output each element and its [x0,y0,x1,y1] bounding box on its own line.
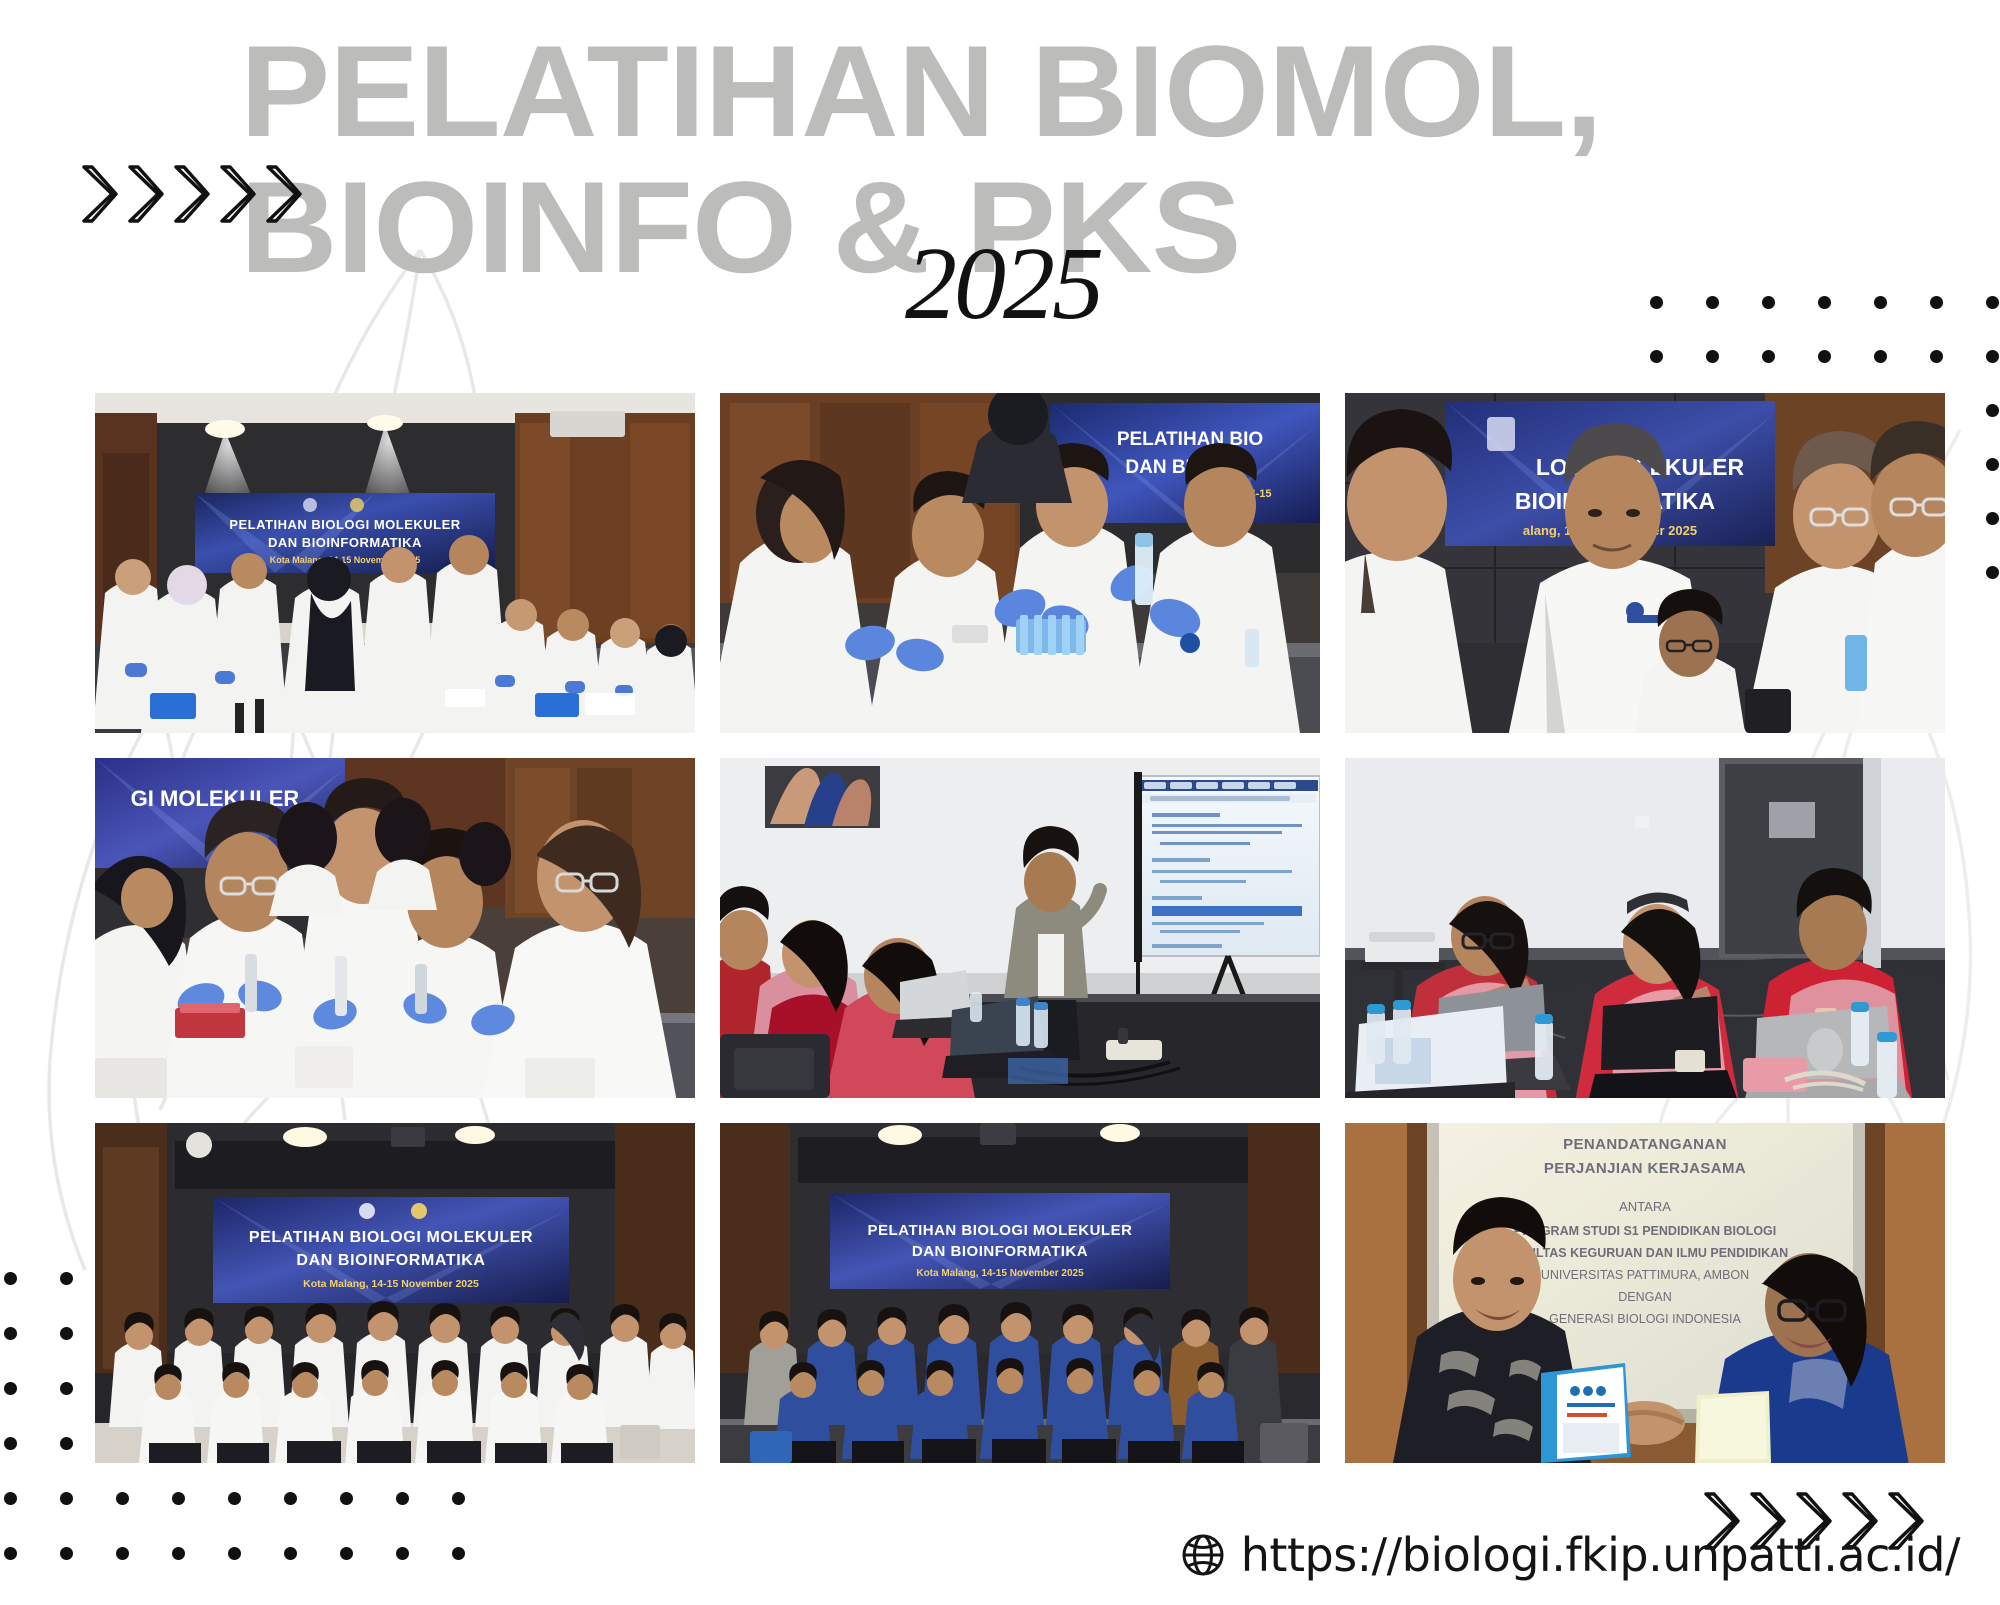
dot-icon [396,1492,409,1505]
dot-icon [1986,404,1999,417]
dot-icon [116,1547,129,1560]
gallery-photo-5[interactable] [720,758,1320,1098]
svg-text:PELATIHAN BIOLOGI MOLEKULER: PELATIHAN BIOLOGI MOLEKULER [249,1229,533,1246]
gallery-photo-6[interactable] [1345,758,1945,1098]
dot-icon [228,1547,241,1560]
svg-text:PERJANJIAN KERJASAMA: PERJANJIAN KERJASAMA [1544,1160,1746,1177]
dot-icon [4,1492,17,1505]
dot-icon [4,1327,17,1340]
dot-icon [1986,512,1999,525]
svg-text:PROGRAM STUDI S1 PENDIDIKAN BI: PROGRAM STUDI S1 PENDIDIKAN BIOLOGI [1514,1224,1777,1238]
dot-icon [396,1547,409,1560]
year-script: 2025 [905,232,1101,336]
dot-icon [60,1437,73,1450]
dot-icon [60,1272,73,1285]
dot-icon [1986,566,1999,579]
chevron-right-icon [78,163,118,225]
dot-icon [228,1492,241,1505]
dot-icon [340,1547,353,1560]
gallery-photo-8[interactable]: PELATIHAN BIOLOGI MOLEKULER DAN BIOINFOR… [720,1123,1320,1463]
svg-text:PELATIHAN BIOLOGI MOLEKULER: PELATIHAN BIOLOGI MOLEKULER [868,1222,1133,1239]
dot-icon [452,1492,465,1505]
dot-icon [284,1492,297,1505]
dot-icon [4,1382,17,1395]
dot-icon [60,1547,73,1560]
gallery-photo-3[interactable]: LOGI MOLEKULER BIOINFORMATIKA alang, 14-… [1345,393,1945,733]
gallery-photo-7[interactable]: PELATIHAN BIOLOGI MOLEKULER DAN BIOINFOR… [95,1123,695,1463]
svg-text:PENANDATANGANAN: PENANDATANGANAN [1563,1136,1727,1153]
photo-gallery: PELATIHAN BIOLOGI MOLEKULER DAN BIOINFOR… [95,393,1945,1463]
gallery-photo-2[interactable]: PELATIHAN BIO DAN BIOIN alang, 14-15 [720,393,1320,733]
dot-icon [60,1382,73,1395]
dot-icon [4,1437,17,1450]
dot-icon [1986,458,1999,471]
globe-icon [1179,1531,1227,1579]
svg-text:Kota Malang, 14-15 November 20: Kota Malang, 14-15 November 2025 [303,1278,479,1290]
svg-text:DAN BIOINFORMATIKA: DAN BIOINFORMATIKA [912,1243,1088,1260]
svg-text:GENERASI BIOLOGI INDONESIA: GENERASI BIOLOGI INDONESIA [1549,1312,1741,1326]
svg-text:UNIVERSITAS PATTIMURA, AMBON: UNIVERSITAS PATTIMURA, AMBON [1541,1268,1749,1282]
dot-icon [172,1547,185,1560]
footer-url-bar[interactable]: https://biologi.fkip.unpatti.ac.id/ [1179,1528,1960,1582]
svg-text:PELATIHAN BIOLOGI MOLEKULER: PELATIHAN BIOLOGI MOLEKULER [229,517,460,532]
chevron-decoration-top-left [78,163,302,225]
chevron-right-icon [262,163,302,225]
dot-icon [284,1547,297,1560]
svg-text:DAN BIOINFORMATIKA: DAN BIOINFORMATIKA [296,1252,485,1269]
svg-text:Kota Malang, 14-15 November 20: Kota Malang, 14-15 November 2025 [916,1268,1084,1279]
dot-icon [60,1492,73,1505]
gallery-photo-4[interactable]: GI MOLEKULER [95,758,695,1098]
chevron-right-icon [124,163,164,225]
dot-icon [172,1492,185,1505]
svg-text:PELATIHAN BIO: PELATIHAN BIO [1117,429,1263,450]
dot-icon [4,1272,17,1285]
dot-icon [60,1327,73,1340]
dot-icon [340,1492,353,1505]
svg-text:DENGAN: DENGAN [1618,1290,1671,1304]
dot-icon [452,1547,465,1560]
dot-icon [4,1547,17,1560]
title-line-1: PELATIHAN BIOMOL, [240,30,1842,154]
gallery-photo-1[interactable]: PELATIHAN BIOLOGI MOLEKULER DAN BIOINFOR… [95,393,695,733]
gallery-photo-9[interactable]: PENANDATANGANAN PERJANJIAN KERJASAMA ANT… [1345,1123,1945,1463]
chevron-right-icon [216,163,256,225]
website-url[interactable]: https://biologi.fkip.unpatti.ac.id/ [1241,1528,1960,1582]
svg-text:ANTARA: ANTARA [1619,1199,1671,1214]
dot-icon [116,1492,129,1505]
chevron-right-icon [170,163,210,225]
